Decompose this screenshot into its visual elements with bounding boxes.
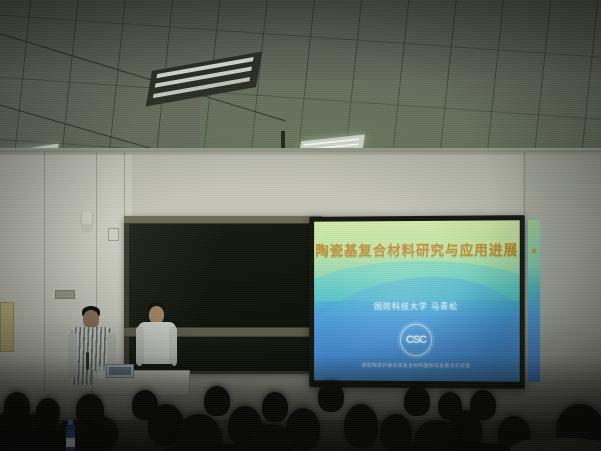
audience-shoulders xyxy=(396,442,516,451)
lecture-hall-photo: 陶瓷基复合材料研究与应用进展 国防科技大学 马青松 CSC 新型陶瓷纤维及其复合… xyxy=(0,0,601,451)
wall-vignette xyxy=(0,150,601,420)
audience-shoulders xyxy=(510,438,601,451)
drink-bottle xyxy=(66,424,75,451)
audience-shoulders xyxy=(0,440,100,451)
bottle-label xyxy=(66,438,75,447)
audience-shoulders xyxy=(160,444,290,451)
